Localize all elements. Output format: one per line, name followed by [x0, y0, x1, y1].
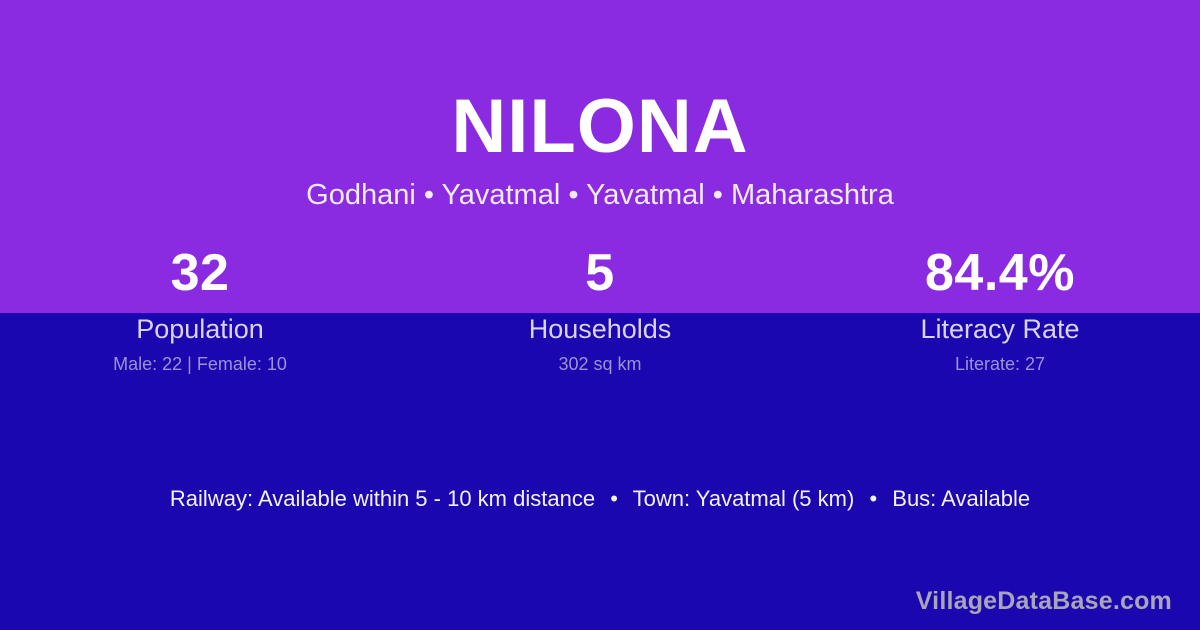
- stat-value: 84.4%: [800, 244, 1200, 302]
- stat-label: Households: [400, 314, 800, 344]
- village-info-card: NILONA Godhani • Yavatmal • Yavatmal • M…: [0, 0, 1200, 630]
- stat-sublabel: 302 sq km: [400, 354, 800, 375]
- stat-value: 32: [0, 244, 400, 302]
- card-header: NILONA Godhani • Yavatmal • Yavatmal • M…: [0, 0, 1200, 212]
- stat-population: 32 Population Male: 22 | Female: 10: [0, 244, 400, 375]
- stat-value: 5: [400, 244, 800, 302]
- site-watermark: VillageDataBase.com: [916, 586, 1172, 616]
- page-title: NILONA: [0, 0, 1200, 170]
- stat-sublabel: Literate: 27: [800, 354, 1200, 375]
- stats-row: 32 Population Male: 22 | Female: 10 5 Ho…: [0, 244, 1200, 375]
- stat-label: Population: [0, 314, 400, 344]
- amenity-bus: Bus: Available: [892, 486, 1030, 511]
- breadcrumb: Godhani • Yavatmal • Yavatmal • Maharash…: [0, 170, 1200, 212]
- stat-label: Literacy Rate: [800, 314, 1200, 344]
- amenity-separator: •: [601, 485, 627, 513]
- amenities-line: Railway: Available within 5 - 10 km dist…: [0, 485, 1200, 513]
- stat-literacy-rate: 84.4% Literacy Rate Literate: 27: [800, 244, 1200, 375]
- stat-sublabel: Male: 22 | Female: 10: [0, 354, 400, 375]
- stat-households: 5 Households 302 sq km: [400, 244, 800, 375]
- amenity-town: Town: Yavatmal (5 km): [633, 486, 855, 511]
- amenity-separator: •: [860, 485, 886, 513]
- amenity-railway: Railway: Available within 5 - 10 km dist…: [170, 486, 595, 511]
